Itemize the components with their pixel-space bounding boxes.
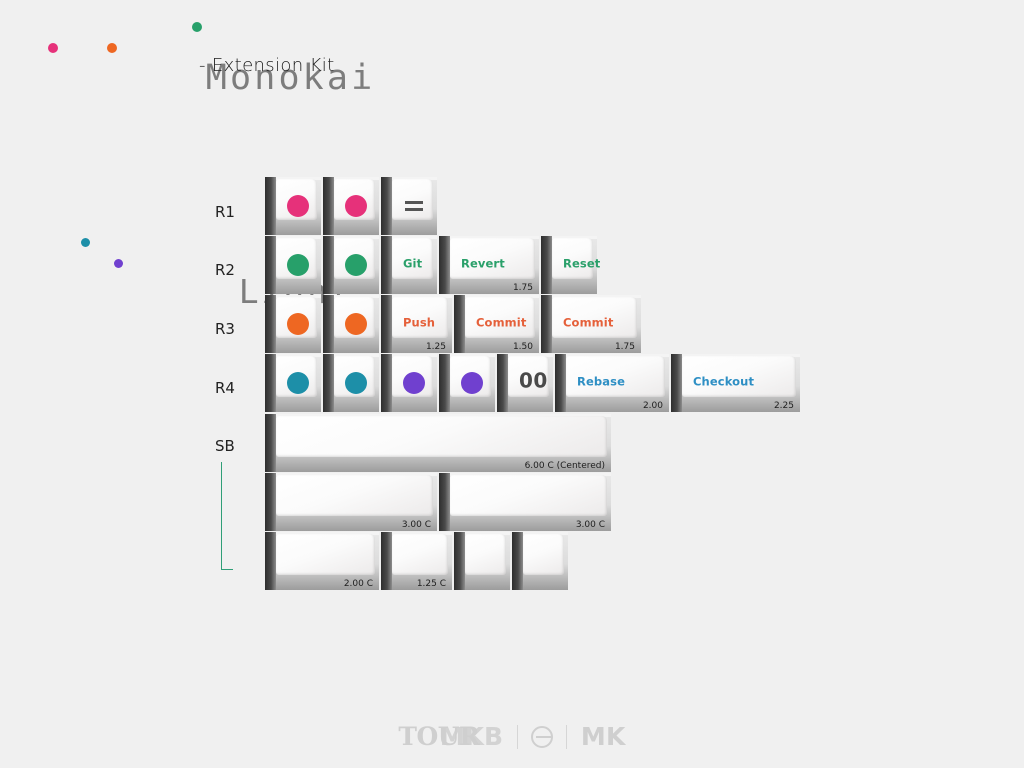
keycap-r4-checkout[interactable]: Checkout2.25 xyxy=(671,354,800,412)
keycap-left-shadow xyxy=(541,295,552,353)
keycap-legend: Push xyxy=(403,316,435,330)
keycap-size-label: 3.00 C xyxy=(576,520,605,530)
keycap-set-render: Monokai Light - Extension Kit R1R2R3R4SB… xyxy=(0,0,1024,768)
keycap-top-face xyxy=(276,475,433,516)
keycap-r4-double-zero[interactable]: 00 xyxy=(497,354,553,412)
keycap-color-dot xyxy=(345,372,367,394)
keycap-left-shadow xyxy=(265,532,276,590)
keycap-left-shadow xyxy=(512,532,523,590)
keycap-top-face xyxy=(392,179,433,220)
keycap-sb-spacebar-300-a[interactable]: 3.00 C xyxy=(265,473,437,531)
footer-watermark: TOUR MKB MK xyxy=(0,722,1024,751)
keycap-layout: R1R2R3R4SBGitRevert1.75ResetPush1.25Comm… xyxy=(0,0,1024,768)
keycap-size-label: 1.75 xyxy=(615,342,635,352)
keycap-color-dot xyxy=(287,195,309,217)
row-label-r3: R3 xyxy=(215,320,261,338)
keycap-left-shadow xyxy=(265,354,276,412)
keycap-legend: Reset xyxy=(563,257,600,271)
keycap-left-shadow xyxy=(541,236,552,294)
keycap-r4-dot-purple-1[interactable] xyxy=(381,354,437,412)
keycap-left-shadow xyxy=(265,177,276,235)
keycap-left-shadow xyxy=(381,177,392,235)
keycap-left-shadow xyxy=(265,236,276,294)
keycap-left-shadow xyxy=(381,532,392,590)
keycap-color-dot xyxy=(287,372,309,394)
keycap-size-label: 3.00 C xyxy=(402,520,431,530)
keycap-left-shadow xyxy=(454,532,465,590)
keycap-size-label: 6.00 C (Centered) xyxy=(525,461,605,471)
keycap-color-dot xyxy=(287,254,309,276)
keycap-top-face xyxy=(392,534,448,575)
row-label-r1: R1 xyxy=(215,203,261,221)
keycap-sb-spacebar-125[interactable]: 1.25 C xyxy=(381,532,452,590)
keycap-r3-commit-175[interactable]: Commit1.75 xyxy=(541,295,641,353)
keycap-left-shadow xyxy=(439,354,450,412)
keycap-size-label: 1.25 xyxy=(426,342,446,352)
keycap-size-label: 1.75 xyxy=(513,283,533,293)
keycap-left-shadow xyxy=(381,295,392,353)
keycap-r4-dot-purple-2[interactable] xyxy=(439,354,495,412)
keycap-color-dot xyxy=(345,254,367,276)
keycap-r4-dot-teal-2[interactable] xyxy=(323,354,379,412)
keycap-legend: Revert xyxy=(461,257,505,271)
keycap-r1-equals[interactable] xyxy=(381,177,437,235)
keycap-legend: Commit xyxy=(476,316,526,330)
keycap-top-face xyxy=(450,475,607,516)
equals-icon-bar-1 xyxy=(405,201,423,204)
keycap-left-shadow xyxy=(497,354,508,412)
keycap-left-shadow xyxy=(323,295,334,353)
keycap-left-shadow xyxy=(671,354,682,412)
keycap-legend: Commit xyxy=(563,316,613,330)
keycap-left-shadow xyxy=(439,473,450,531)
keycap-color-dot xyxy=(403,372,425,394)
keycap-sb-blank-100-a[interactable] xyxy=(454,532,510,590)
keycap-left-shadow xyxy=(323,354,334,412)
keycap-top-face xyxy=(523,534,564,575)
keycap-legend: Git xyxy=(403,257,422,271)
keycap-left-shadow xyxy=(439,236,450,294)
watermark-mk: MK xyxy=(581,722,626,751)
keycap-r4-rebase[interactable]: Rebase2.00 xyxy=(555,354,669,412)
keycap-size-label: 2.00 C xyxy=(344,579,373,589)
keycap-r3-push[interactable]: Push1.25 xyxy=(381,295,452,353)
keycap-r1-dot-pink-2[interactable] xyxy=(323,177,379,235)
keycap-r3-commit-150[interactable]: Commit1.50 xyxy=(454,295,539,353)
keycap-left-shadow xyxy=(265,414,276,472)
spacebar-group-bracket xyxy=(221,462,233,570)
keycap-r2-reset[interactable]: Reset xyxy=(541,236,597,294)
keycap-left-shadow xyxy=(454,295,465,353)
keycap-r2-git[interactable]: Git xyxy=(381,236,437,294)
keycap-top-face xyxy=(276,534,375,575)
row-label-sb: SB xyxy=(215,437,261,455)
row-label-r4: R4 xyxy=(215,379,261,397)
keycap-size-label: 1.25 C xyxy=(417,579,446,589)
keycap-color-dot xyxy=(461,372,483,394)
keycap-left-shadow xyxy=(381,354,392,412)
keycap-sb-spacebar-300-b[interactable]: 3.00 C xyxy=(439,473,611,531)
keycap-color-dot xyxy=(287,313,309,335)
keycap-sb-spacebar-600[interactable]: 6.00 C (Centered) xyxy=(265,414,611,472)
keycap-r4-dot-teal-1[interactable] xyxy=(265,354,321,412)
keycap-size-label: 2.25 xyxy=(774,401,794,411)
keycap-size-label: 2.00 xyxy=(643,401,663,411)
keycap-left-shadow xyxy=(323,177,334,235)
keycap-r2-dot-green-2[interactable] xyxy=(323,236,379,294)
keycap-legend: Rebase xyxy=(577,375,625,389)
keycap-r2-revert[interactable]: Revert1.75 xyxy=(439,236,539,294)
keycap-sb-spacebar-200[interactable]: 2.00 C xyxy=(265,532,379,590)
keycap-left-shadow xyxy=(323,236,334,294)
keycap-left-shadow xyxy=(555,354,566,412)
keycap-top-face xyxy=(276,416,607,457)
keycap-legend: 00 xyxy=(519,369,548,393)
watermark-divider-2 xyxy=(566,725,567,749)
keycap-left-shadow xyxy=(265,295,276,353)
keycap-r3-dot-orange-1[interactable] xyxy=(265,295,321,353)
keycap-r3-dot-orange-2[interactable] xyxy=(323,295,379,353)
row-label-r2: R2 xyxy=(215,261,261,279)
keycap-color-dot xyxy=(345,195,367,217)
keycap-color-dot xyxy=(345,313,367,335)
watermark-divider-1 xyxy=(517,725,518,749)
keycap-left-shadow xyxy=(265,473,276,531)
keycap-left-shadow xyxy=(381,236,392,294)
keycap-size-label: 1.50 xyxy=(513,342,533,352)
keycap-r2-dot-green-1[interactable] xyxy=(265,236,321,294)
equals-icon-bar-2 xyxy=(405,208,423,211)
keycap-top-face xyxy=(465,534,506,575)
watermark-overlay: MKB xyxy=(440,722,503,751)
keycap-sb-blank-100-b[interactable] xyxy=(512,532,568,590)
keycap-legend: Checkout xyxy=(693,375,754,389)
keycap-r1-dot-pink-1[interactable] xyxy=(265,177,321,235)
watermark-circle-icon xyxy=(531,726,553,748)
